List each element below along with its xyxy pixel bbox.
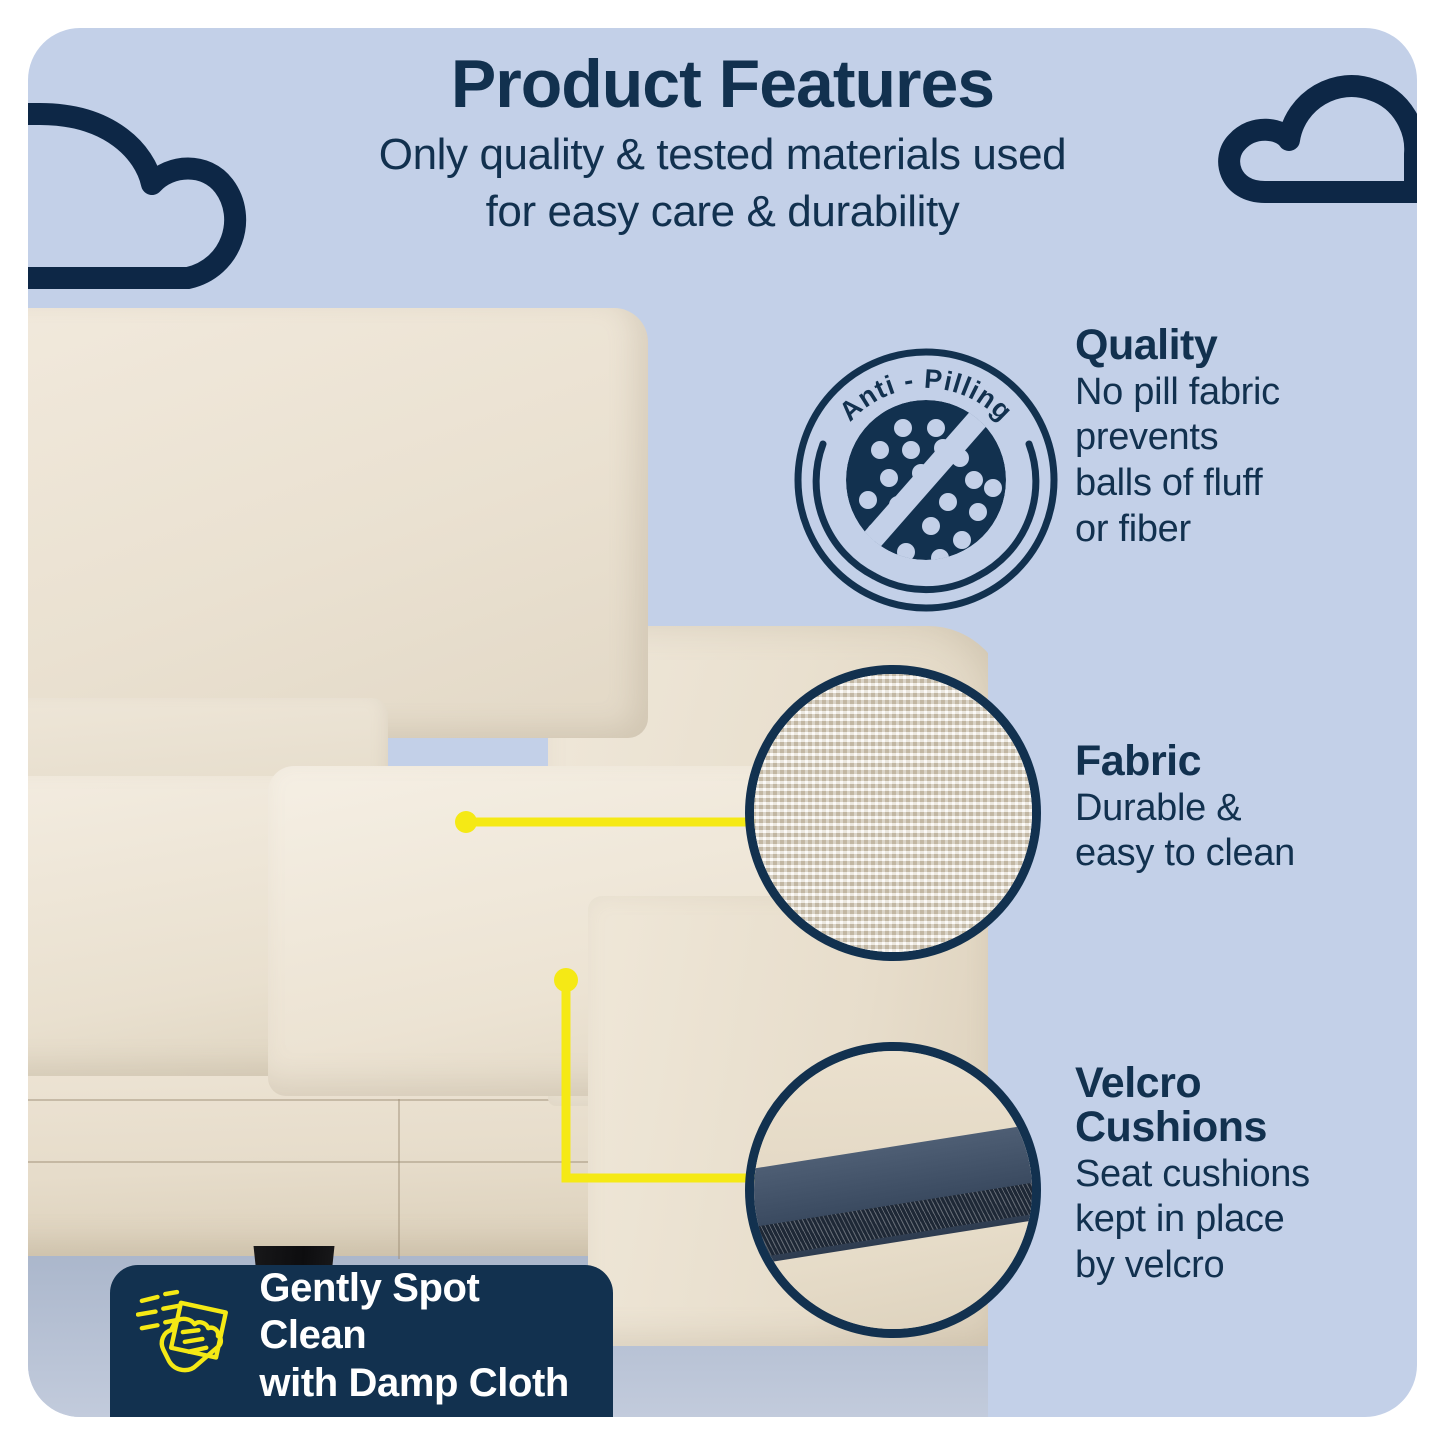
- callout-circle-fabric: [745, 665, 1041, 961]
- feature-desc-line: easy to clean: [1075, 831, 1395, 877]
- spot-clean-line-2: with Damp Cloth: [259, 1360, 589, 1407]
- feature-desc-line: kept in place: [1075, 1197, 1395, 1243]
- spot-clean-badge: Gently Spot Clean with Damp Cloth: [110, 1265, 613, 1417]
- feature-desc-line: Durable &: [1075, 786, 1395, 832]
- feature-title-line: Cushions: [1075, 1106, 1395, 1150]
- spot-clean-line-1: Gently Spot Clean: [259, 1265, 589, 1359]
- sofa-back-cushion: [28, 308, 648, 738]
- feature-text-velcro: Velcro Cushions Seat cushions kept in pl…: [1075, 1062, 1395, 1289]
- fabric-weave-texture: [754, 674, 1032, 952]
- feature-desc-line: or fiber: [1075, 507, 1395, 553]
- feature-desc-line: No pill fabric: [1075, 370, 1395, 416]
- subtitle-line-2: for easy care & durability: [28, 183, 1417, 240]
- feature-title-velcro: Velcro Cushions: [1075, 1062, 1395, 1150]
- wiping-hand-cloth-icon: [136, 1284, 241, 1388]
- spot-clean-text: Gently Spot Clean with Damp Cloth: [259, 1265, 589, 1407]
- no-pilling-icon: Anti - Pilling: [788, 340, 1064, 616]
- feature-title-fabric: Fabric: [1075, 740, 1395, 784]
- feature-title-line: Velcro: [1075, 1062, 1395, 1106]
- feature-desc-velcro: Seat cushions kept in place by velcro: [1075, 1152, 1395, 1289]
- page-subtitle: Only quality & tested materials used for…: [28, 126, 1417, 240]
- feature-text-fabric: Fabric Durable & easy to clean: [1075, 740, 1395, 877]
- anti-pilling-badge: Anti - Pilling: [788, 340, 1064, 616]
- callout-circle-velcro: [745, 1042, 1041, 1338]
- feature-desc-line: Seat cushions: [1075, 1152, 1395, 1198]
- feature-title-quality: Quality: [1075, 324, 1395, 368]
- feature-desc-quality: No pill fabric prevents balls of fluff o…: [1075, 370, 1395, 552]
- feature-text-quality: Quality No pill fabric prevents balls of…: [1075, 324, 1395, 552]
- feature-desc-line: by velcro: [1075, 1243, 1395, 1289]
- feature-desc-line: prevents: [1075, 415, 1395, 461]
- page-title: Product Features: [28, 48, 1417, 120]
- subtitle-line-1: Only quality & tested materials used: [28, 126, 1417, 183]
- header: Product Features Only quality & tested m…: [28, 48, 1417, 240]
- feature-desc-line: balls of fluff: [1075, 461, 1395, 507]
- feature-desc-fabric: Durable & easy to clean: [1075, 786, 1395, 877]
- infographic-canvas: Anti - Pilling Product Features Only qua…: [28, 28, 1417, 1417]
